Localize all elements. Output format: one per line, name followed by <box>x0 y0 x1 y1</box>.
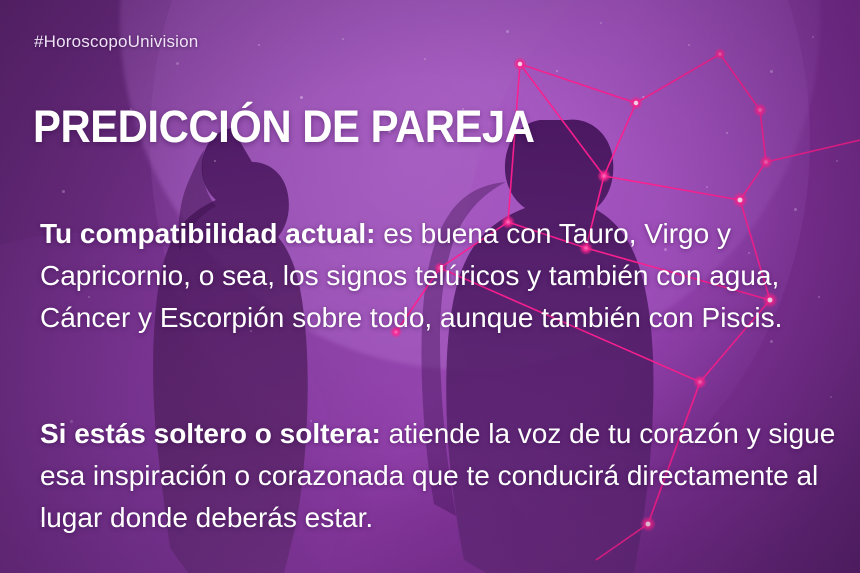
paragraph-lead-compatibility: Tu compatibilidad actual: <box>40 218 376 249</box>
card-content: #HoroscopoUnivision PREDICCIÓN DE PAREJA… <box>0 0 860 573</box>
paragraph-lead-single: Si estás soltero o soltera: <box>40 418 381 449</box>
paragraph-compatibility: Tu compatibilidad actual: es buena con T… <box>40 213 840 339</box>
hashtag-label: #HoroscopoUnivision <box>34 32 198 52</box>
horoscope-card: #HoroscopoUnivision PREDICCIÓN DE PAREJA… <box>0 0 860 573</box>
paragraph-single: Si estás soltero o soltera: atiende la v… <box>40 413 840 539</box>
page-title: PREDICCIÓN DE PAREJA <box>33 102 535 152</box>
